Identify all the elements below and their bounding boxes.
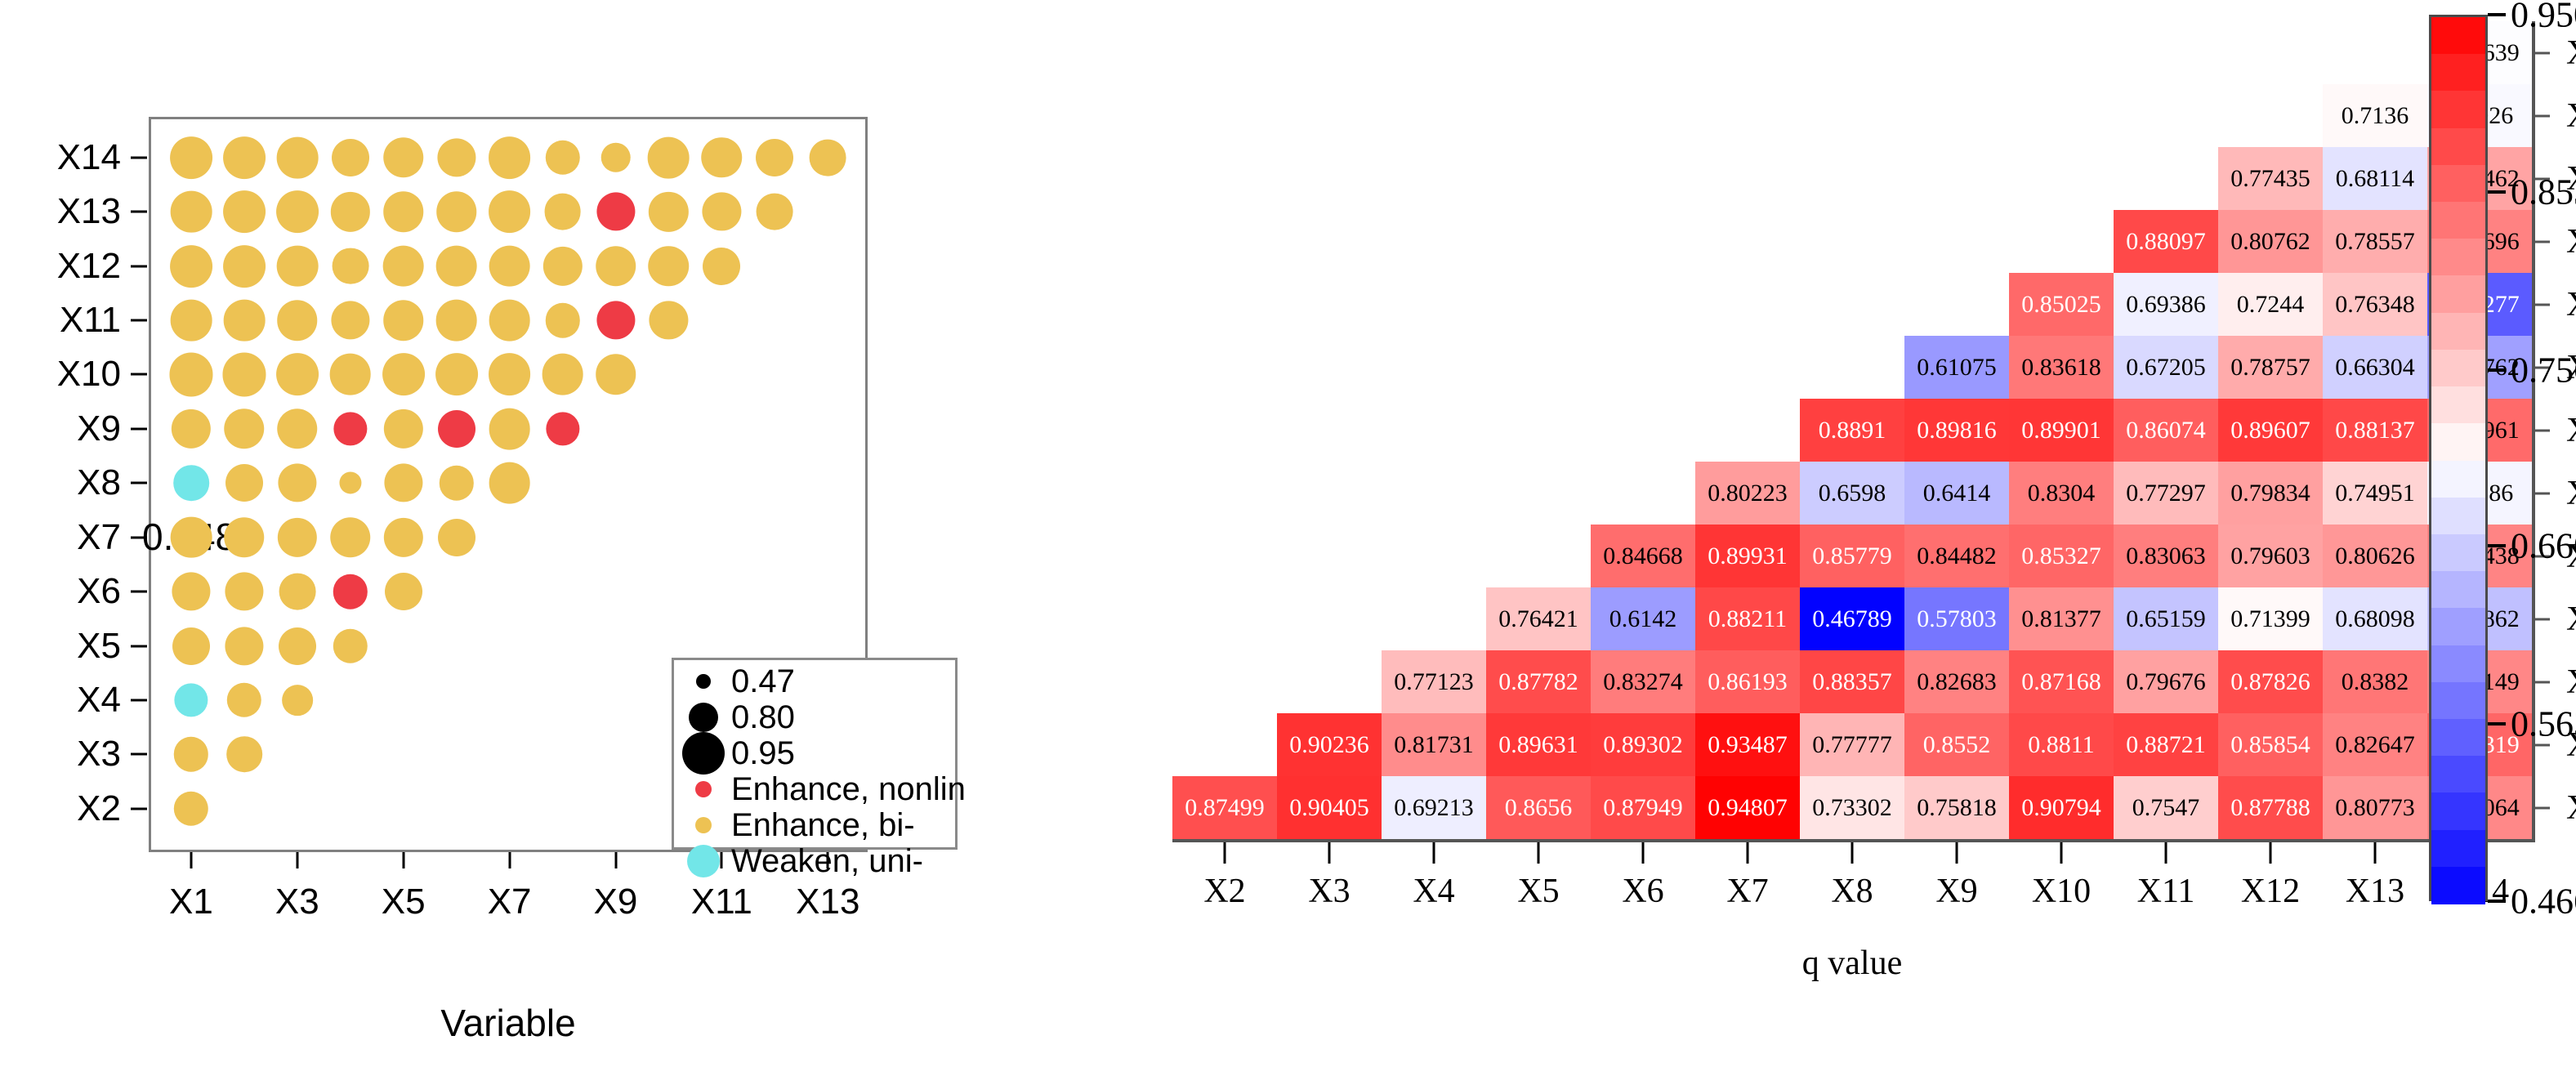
bubble-x-tick-label-X9: X9 [594, 882, 638, 922]
heatmap-cell: 0.8811 [2009, 713, 2114, 776]
bubble-y-tick-label-X8: X8 [77, 462, 121, 503]
bubble-point [648, 136, 690, 178]
bubble-point [596, 193, 635, 231]
heatmap-cell: 0.87788 [2218, 776, 2323, 839]
bubble-y-tick-label-X3: X3 [77, 734, 121, 775]
heatmap-cell: 0.68098 [2323, 587, 2427, 650]
heatmap-cell: 0.93487 [1695, 713, 1800, 776]
heatmap-cell: 0.7136 [2323, 84, 2427, 147]
heatmap-cell: 0.86074 [2114, 399, 2218, 462]
heatmap-cell: 0.8891 [1800, 399, 1904, 462]
bubble-point [332, 248, 368, 284]
heatmap-cell: 0.67205 [2114, 336, 2218, 399]
heatmap-col-label-X8: X8 [1831, 872, 1873, 911]
heatmap-cell: 0.88137 [2323, 399, 2427, 462]
heatmap-cell: 0.90236 [1277, 713, 1382, 776]
bubble-point [489, 190, 531, 233]
bubble-x-tick-label-X7: X7 [488, 882, 532, 922]
bubble-x-tick-label-X3: X3 [275, 882, 319, 922]
bubble-point [703, 193, 741, 231]
colorbar-segment [2431, 275, 2485, 313]
heatmap-cell: 0.85779 [1800, 525, 1904, 587]
bubble-y-tick-label-X6: X6 [77, 571, 121, 612]
heatmap-cell: 0.79834 [2218, 462, 2323, 525]
bubble-point [382, 354, 425, 396]
heatmap-cell: 0.73302 [1800, 776, 1904, 839]
heatmap-cell: 0.89816 [1904, 399, 2009, 462]
colorbar-tick-label-0.466: 0.466 [2511, 881, 2576, 922]
heatmap-col-tick [1433, 842, 1435, 864]
bubble-point [277, 409, 318, 449]
bubble-point [225, 573, 263, 611]
bubble-y-tick-label-X12: X12 [57, 246, 121, 287]
legend-size-label: 0.47 [731, 663, 795, 700]
heatmap-cell: 0.82683 [1904, 650, 2009, 713]
heatmap-col-label-X11: X11 [2137, 872, 2195, 911]
heatmap-cell: 0.71399 [2218, 587, 2323, 650]
legend-size-row: 0.95 [681, 735, 795, 771]
bubble-point [170, 136, 212, 179]
colorbar-tick-label-0.563: 0.563 [2511, 703, 2576, 744]
heatmap-cell: 0.77435 [2218, 147, 2323, 210]
legend-category-dot-icon [695, 817, 712, 833]
legend-size-label: 0.80 [731, 699, 795, 736]
heatmap-cell: 0.80762 [2218, 210, 2323, 273]
heatmap-cell: 0.57803 [1904, 587, 2009, 650]
colorbar-tick [2488, 900, 2506, 903]
colorbar-segment [2431, 461, 2485, 498]
colorbar-tick [2488, 544, 2506, 547]
heatmap-cell: 0.82647 [2323, 713, 2427, 776]
heatmap-cell: 0.69213 [1382, 776, 1486, 839]
heatmap-col-tick [1328, 842, 1331, 864]
bubble-point [384, 464, 422, 502]
bubble-x-tick [827, 852, 829, 868]
bubble-point [172, 627, 210, 665]
heatmap-cell: 0.85327 [2009, 525, 2114, 587]
heatmap-cell: 0.83274 [1591, 650, 1695, 713]
legend-category-row: Weaken, uni- [681, 843, 923, 879]
heatmap-col-label-X3: X3 [1308, 872, 1350, 911]
bubble-point [382, 245, 424, 287]
left-bubble-panel: 0.9481 Variable 0.470.800.95Enhance, non… [0, 0, 997, 1076]
bubble-point [542, 354, 583, 395]
heatmap-cell: 0.80626 [2323, 525, 2427, 587]
bubble-point [596, 301, 635, 339]
heatmap-cell: 0.8304 [2009, 462, 2114, 525]
bubble-point [282, 685, 313, 716]
heatmap-cell: 0.89631 [1486, 713, 1591, 776]
heatmap-cell: 0.8552 [1904, 713, 2009, 776]
bubble-point [489, 462, 530, 504]
bubble-point [332, 139, 369, 176]
bubble-point [329, 354, 371, 395]
heatmap-cell: 0.88357 [1800, 650, 1904, 713]
colorbar-segment [2431, 792, 2485, 830]
bubble-x-tick [614, 852, 617, 868]
bubble-point [224, 517, 265, 558]
bubble-point [489, 245, 530, 287]
colorbar-segment [2431, 239, 2485, 276]
bubble-y-tick [131, 591, 147, 593]
heatmap-cell: 0.6142 [1591, 587, 1695, 650]
bubble-point [383, 191, 424, 232]
legend-size-label: 0.95 [731, 735, 795, 772]
heatmap-col-label-X4: X4 [1413, 872, 1454, 911]
bubble-x-tick-label-X5: X5 [382, 882, 426, 922]
bubble-point [171, 300, 212, 342]
bubble-x-tick [402, 852, 404, 868]
heatmap-col-tick [1956, 842, 1958, 864]
heatmap-cell: 0.79603 [2218, 525, 2323, 587]
bubble-point [596, 355, 636, 395]
heatmap-cell: 0.66304 [2323, 336, 2427, 399]
bubble-point [279, 574, 315, 610]
figure-root: 0.9481 Variable 0.470.800.95Enhance, non… [0, 0, 2576, 1076]
bubble-point [278, 464, 316, 502]
bubble-point [385, 573, 422, 610]
heatmap-cell: 0.65159 [2114, 587, 2218, 650]
colorbar-tick [2488, 190, 2506, 194]
bubble-point [170, 245, 212, 288]
heatmap-cell: 0.46789 [1800, 587, 1904, 650]
bubble-y-tick-label-X5: X5 [77, 626, 121, 667]
legend-category-row: Enhance, nonlin [681, 771, 966, 807]
heatmap-cell: 0.79676 [2114, 650, 2218, 713]
bubble-point [596, 246, 636, 287]
heatmap-col-tick [2374, 842, 2377, 864]
colorbar-segment [2431, 830, 2485, 868]
bubble-point [171, 191, 212, 233]
colorbar-segment [2431, 867, 2485, 904]
bubble-y-tick-label-X14: X14 [57, 137, 121, 178]
heatmap-col-tick [1538, 842, 1540, 864]
bubble-y-tick [131, 482, 147, 484]
bubble-point [277, 300, 318, 341]
bubble-y-tick-label-X7: X7 [77, 517, 121, 558]
bubble-point [224, 409, 265, 449]
heatmap-cell: 0.78757 [2218, 336, 2323, 399]
heatmap-cell: 0.87168 [2009, 650, 2114, 713]
bubble-point [810, 139, 846, 176]
heatmap-cell: 0.76421 [1486, 587, 1591, 650]
heatmap-col-tick [2270, 842, 2272, 864]
legend-size-row: 0.80 [681, 699, 795, 735]
heatmap-cell: 0.90405 [1277, 776, 1382, 839]
bubble-point [172, 573, 210, 611]
bubble-y-tick-label-X2: X2 [77, 788, 121, 829]
bubble-point [169, 353, 212, 396]
right-heatmap-panel: 0.874990.904050.692130.86560.879490.9480… [997, 0, 2576, 1076]
bubble-point [225, 627, 263, 665]
heatmap-cell: 0.74951 [2323, 462, 2427, 525]
colorbar-tick-label-0.853: 0.853 [2511, 172, 2576, 213]
bubble-y-tick [131, 427, 147, 430]
heatmap-cell: 0.77777 [1800, 713, 1904, 776]
bubble-y-tick [131, 211, 147, 213]
bubble-point [330, 517, 371, 558]
bubble-point [171, 516, 212, 558]
bubble-y-tick [131, 807, 147, 810]
colorbar-segment [2431, 54, 2485, 92]
heatmap-cell: 0.77297 [2114, 462, 2218, 525]
heatmap-cell: 0.89931 [1695, 525, 1800, 587]
heatmap-col-label-X2: X2 [1203, 872, 1245, 911]
bubble-x-tick [508, 852, 511, 868]
colorbar-segment [2431, 386, 2485, 424]
colorbar-legend: 0.9500.8530.7560.6600.5630.466 [2429, 15, 2576, 922]
heatmap-cell: 0.85854 [2218, 713, 2323, 776]
bubble-point [650, 301, 688, 339]
bubble-point [489, 409, 530, 450]
bubble-point [339, 472, 361, 494]
bubble-y-tick [131, 265, 147, 267]
bubble-y-tick-label-X11: X11 [60, 300, 121, 341]
legend-category-row: Enhance, bi- [681, 807, 915, 843]
bubble-point [437, 138, 475, 176]
heatmap-col-label-X6: X6 [1622, 872, 1663, 911]
bubble-legend-box: 0.470.800.95Enhance, nonlinEnhance, bi-W… [672, 658, 958, 850]
bubble-y-tick [131, 753, 147, 756]
heatmap-cell: 0.89607 [2218, 399, 2323, 462]
heatmap-cell: 0.87949 [1591, 776, 1695, 839]
bubble-point [544, 194, 581, 230]
colorbar-tick-label-0.950: 0.950 [2511, 0, 2576, 36]
heatmap-col-label-X13: X13 [2346, 872, 2404, 911]
bubble-point [331, 301, 369, 339]
bubble-x-axis-title: Variable [440, 1001, 575, 1045]
heatmap-col-tick [1747, 842, 1749, 864]
colorbar-gradient [2429, 15, 2488, 901]
heatmap-cell: 0.85025 [2009, 273, 2114, 336]
legend-category-label: Enhance, nonlin [731, 771, 966, 808]
bubble-point [226, 737, 262, 773]
bubble-y-tick [131, 373, 147, 376]
bubble-point [756, 139, 793, 176]
colorbar-segment [2431, 350, 2485, 387]
legend-category-label: Enhance, bi- [731, 807, 915, 844]
bubble-point [173, 466, 209, 502]
bubble-point [223, 190, 266, 233]
bubble-x-tick [721, 852, 723, 868]
bubble-point [600, 143, 631, 173]
heatmap-x-axis-title: q value [1802, 944, 1902, 983]
bubble-point [435, 300, 477, 342]
bubble-y-tick-label-X10: X10 [57, 354, 121, 395]
bubble-point [649, 246, 690, 287]
bubble-x-tick [296, 852, 298, 868]
heatmap-col-label-X7: X7 [1726, 872, 1768, 911]
heatmap-cell: 0.68114 [2323, 147, 2427, 210]
heatmap-bottom-axis [1172, 839, 2535, 842]
heatmap-cell: 0.8656 [1486, 776, 1591, 839]
bubble-point [224, 300, 266, 342]
bubble-point [276, 354, 319, 396]
heatmap-cell: 0.88211 [1695, 587, 1800, 650]
colorbar-tick [2488, 722, 2506, 726]
bubble-x-tick-label-X1: X1 [169, 882, 213, 922]
colorbar-segment [2431, 608, 2485, 645]
heatmap-cell: 0.83063 [2114, 525, 2218, 587]
heatmap-cell: 0.6598 [1800, 462, 1904, 525]
heatmap-cell: 0.7547 [2114, 776, 2218, 839]
bubble-point [703, 248, 740, 285]
heatmap-cell: 0.87826 [2218, 650, 2323, 713]
bubble-y-tick [131, 156, 147, 158]
heatmap-col-label-X5: X5 [1517, 872, 1559, 911]
heatmap-cell: 0.81377 [2009, 587, 2114, 650]
heatmap-cell: 0.61075 [1904, 336, 2009, 399]
bubble-point [436, 191, 477, 232]
bubble-x-tick-label-X11: X11 [691, 882, 752, 922]
heatmap-cell: 0.84482 [1904, 525, 2009, 587]
bubble-point [276, 190, 319, 233]
bubble-y-tick-label-X4: X4 [77, 680, 121, 721]
colorbar-segment [2431, 719, 2485, 757]
colorbar-tick-label-0.660: 0.660 [2511, 525, 2576, 567]
heatmap-cell: 0.80773 [2323, 776, 2427, 839]
bubble-point [489, 354, 531, 396]
bubble-x-tick-label-X13: X13 [796, 882, 859, 922]
heatmap-cell: 0.89302 [1591, 713, 1695, 776]
heatmap-cell: 0.80223 [1695, 462, 1800, 525]
heatmap-cell: 0.77123 [1382, 650, 1486, 713]
bubble-point [438, 410, 475, 448]
colorbar-segment [2431, 17, 2485, 55]
bubble-x-tick [190, 852, 192, 868]
bubble-point [757, 194, 793, 230]
heatmap-cell: 0.7244 [2218, 273, 2323, 336]
bubble-point [279, 627, 316, 665]
legend-category-dot-icon [695, 781, 712, 797]
heatmap-col-tick [1224, 842, 1226, 864]
colorbar-segment [2431, 165, 2485, 203]
bubble-y-tick [131, 536, 147, 538]
heatmap-cell: 0.88097 [2114, 210, 2218, 273]
heatmap-col-tick [1851, 842, 1854, 864]
legend-size-dot-icon [689, 703, 718, 732]
bubble-y-tick-label-X9: X9 [77, 409, 121, 449]
colorbar-tick-label-0.756: 0.756 [2511, 349, 2576, 391]
legend-size-dot-icon [682, 732, 725, 775]
colorbar-segment [2431, 682, 2485, 720]
heatmap-col-tick [2165, 842, 2168, 864]
heatmap-col-tick [1642, 842, 1645, 864]
bubble-y-tick [131, 645, 147, 647]
colorbar-tick [2488, 13, 2506, 16]
heatmap-cell: 0.87499 [1172, 776, 1277, 839]
heatmap-cell: 0.94807 [1695, 776, 1800, 839]
bubble-point [435, 354, 478, 396]
colorbar-segment [2431, 571, 2485, 609]
bubble-point [702, 137, 743, 178]
bubble-point [489, 136, 531, 179]
colorbar-tick [2488, 368, 2506, 372]
bubble-y-tick [131, 319, 147, 322]
heatmap-cell: 0.88721 [2114, 713, 2218, 776]
bubble-point [277, 245, 319, 287]
bubble-y-tick-label-X13: X13 [57, 191, 121, 232]
bubble-point [489, 300, 530, 342]
heatmap-col-label-X10: X10 [2032, 872, 2091, 911]
heatmap-cell: 0.90794 [2009, 776, 2114, 839]
heatmap-cell: 0.87782 [1486, 650, 1591, 713]
colorbar-segment [2431, 313, 2485, 350]
heatmap-cell: 0.83618 [2009, 336, 2114, 399]
legend-category-dot-icon [687, 845, 720, 877]
colorbar-segment [2431, 91, 2485, 128]
heatmap-cell: 0.89901 [2009, 399, 2114, 462]
colorbar-segment [2431, 423, 2485, 461]
colorbar-segment [2431, 534, 2485, 572]
colorbar-segment [2431, 645, 2485, 683]
colorbar-segment [2431, 128, 2485, 166]
heatmap-cell: 0.6414 [1904, 462, 2009, 525]
heatmap-col-label-X9: X9 [1935, 872, 1977, 911]
bubble-point [438, 519, 475, 556]
heatmap-cell: 0.69386 [2114, 273, 2218, 336]
heatmap-cell: 0.84668 [1591, 525, 1695, 587]
colorbar-segment [2431, 498, 2485, 535]
heatmap-cell: 0.81731 [1382, 713, 1486, 776]
colorbar-segment [2431, 202, 2485, 239]
bubble-point [435, 245, 477, 287]
heatmap-col-tick [2060, 842, 2063, 864]
bubble-point [223, 245, 266, 288]
bubble-point [383, 300, 424, 341]
legend-size-dot-icon [696, 674, 711, 689]
colorbar-segment [2431, 756, 2485, 793]
heatmap-cell: 0.86193 [1695, 650, 1800, 713]
bubble-point [277, 136, 319, 178]
bubble-point [222, 353, 266, 396]
bubble-point [225, 464, 263, 502]
bubble-point [223, 136, 266, 179]
heatmap-cell: 0.78557 [2323, 210, 2427, 273]
legend-size-row: 0.47 [681, 663, 795, 699]
bubble-y-tick [131, 699, 147, 702]
bubble-point [383, 137, 424, 178]
heatmap-col-label-X12: X12 [2241, 872, 2300, 911]
heatmap-cell: 0.75818 [1904, 776, 2009, 839]
heatmap-cell: 0.8382 [2323, 650, 2427, 713]
heatmap-cell: 0.76348 [2323, 273, 2427, 336]
